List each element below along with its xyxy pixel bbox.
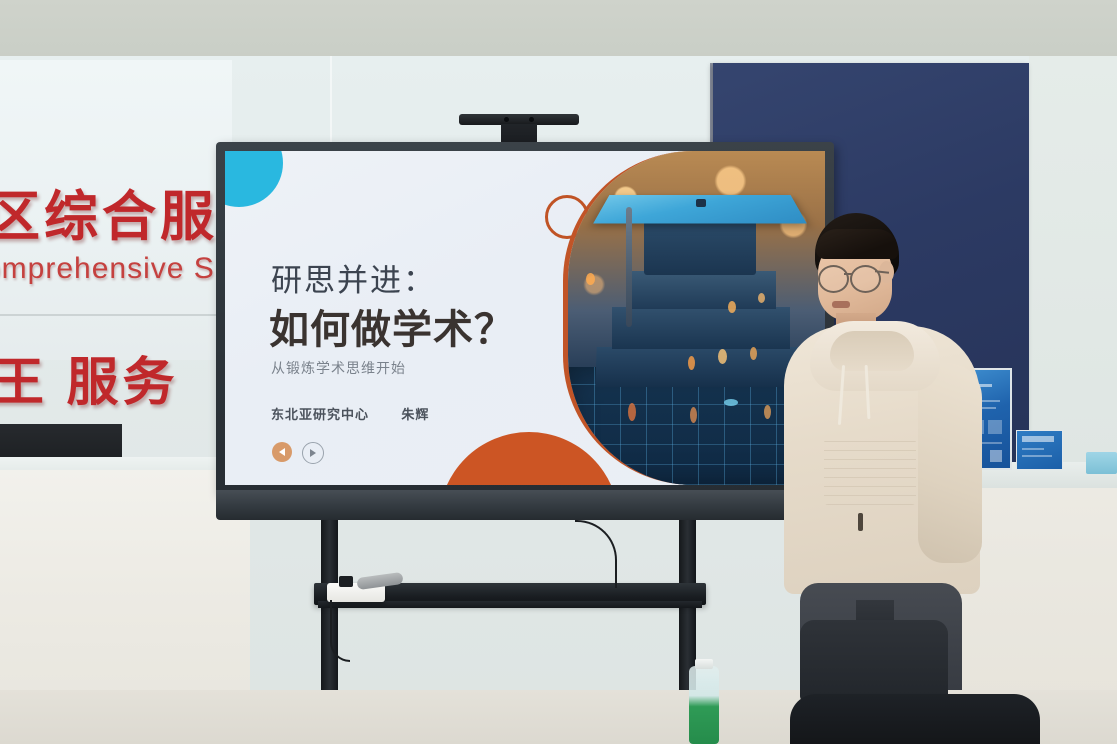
presenter-hair-fringe: [816, 229, 898, 259]
water-bottle-cap: [695, 659, 713, 669]
office-chair-seat: [790, 694, 1040, 744]
display-bottom-bezel: [216, 490, 834, 520]
bokeh-light: [764, 405, 771, 419]
photo-book-middle: [612, 307, 790, 349]
photo-cap-button: [696, 199, 706, 207]
signage-english: omprehensive S: [0, 252, 215, 286]
presenter-mouth: [832, 301, 850, 308]
hoodie-print: [824, 439, 916, 505]
bokeh-light: [750, 347, 757, 360]
wall-signage-panel: 区综合服 omprehensive S 王 服务: [0, 60, 232, 360]
small-blue-sign: [1016, 430, 1063, 470]
bokeh-light: [628, 403, 636, 421]
photo-book-bottom: [595, 347, 802, 387]
photo-book-top: [626, 271, 776, 309]
bokeh-light: [724, 399, 738, 406]
hoodie-zip-pull: [858, 513, 863, 531]
ceiling-band: [0, 0, 1117, 60]
eyeglasses-right-lens: [850, 265, 881, 293]
interactive-flat-panel[interactable]: 研思并进： 如何做学术？ 从锻炼学术思维开始 东北亚研究中心 朱辉: [216, 142, 834, 520]
camera-lens-icon: [529, 117, 534, 122]
photo-cap-tassel: [626, 207, 632, 327]
slide-pretitle: 研思并进：: [271, 255, 436, 300]
slide-subtitle: 从锻炼学术思维开始: [271, 358, 406, 378]
power-cable: [330, 600, 350, 662]
background-blue-box: [1086, 452, 1117, 474]
eyeglasses-bridge: [844, 273, 852, 275]
slide-author-line: 东北亚研究中心 朱辉: [271, 404, 429, 423]
slide-canvas[interactable]: 研思并进： 如何做学术？ 从锻炼学术思维开始 东北亚研究中心 朱辉: [225, 151, 825, 485]
bokeh-light: [718, 349, 727, 364]
bokeh-light: [586, 273, 595, 285]
signage-divider: [0, 314, 232, 316]
camera-lens-icon: [504, 117, 509, 122]
slide-title: 如何做学术？: [269, 297, 515, 355]
signage-chinese-top: 区综合服: [0, 172, 218, 251]
bokeh-light: [728, 301, 736, 313]
play-icon: [310, 449, 316, 457]
author-name: 朱辉: [401, 407, 429, 422]
water-bottle: [689, 666, 719, 744]
right-wall-section: [1029, 56, 1117, 466]
author-org: 东北亚研究中心: [271, 407, 369, 422]
bokeh-light: [758, 293, 765, 303]
presenter-arm: [918, 363, 982, 563]
slide-next-button[interactable]: [302, 442, 324, 464]
chevron-left-icon: [279, 448, 285, 456]
presentation-room-photo: 区综合服 omprehensive S 王 服务: [0, 0, 1117, 744]
bokeh-light: [688, 356, 695, 370]
slide-prev-button[interactable]: [272, 442, 292, 462]
cyan-circle-decoration: [225, 151, 283, 207]
eyeglasses-left-lens: [818, 265, 849, 293]
office-chair-back: [800, 620, 948, 702]
bokeh-light: [690, 407, 697, 423]
signage-chinese-bottom: 王 服务: [0, 340, 178, 415]
power-plug: [339, 576, 353, 587]
stand-shelf-lip: [318, 601, 702, 608]
